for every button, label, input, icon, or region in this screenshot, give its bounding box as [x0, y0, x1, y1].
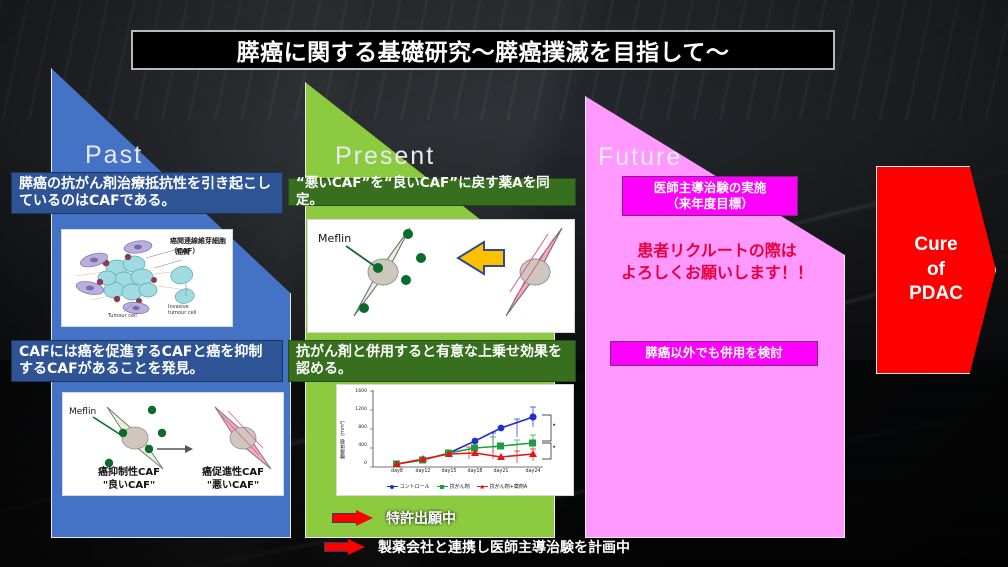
page-title: 膵癌に関する基礎研究〜膵癌撲滅を目指して〜 — [237, 33, 730, 67]
future-recruit-line2: よろしくお願いします！！ — [621, 263, 813, 282]
caf-meflin-label: Meflin — [69, 407, 96, 417]
caf-good-caption-line1: 癌抑制性CAF — [98, 467, 160, 478]
chart-legend-label-2: 抗がん剤+薬剤A — [490, 483, 528, 490]
note-patent: 特許出願中 — [332, 508, 456, 528]
past-statement-2: CAFには癌を促進するCAFと癌を抑制するCAFがあることを発見。 — [11, 340, 283, 382]
future-trial-box: 医師主導治験の実施 （来年度目標） — [622, 176, 798, 216]
present-statement-1: “悪いCAF”を“良いCAF”に戻す薬Aを同定。 — [288, 178, 576, 206]
caf-bad-caption-line1: 癌促進性CAF — [202, 467, 264, 478]
meflin-label: Meflin — [318, 232, 351, 245]
present-statement-2: 抗がん剤と併用すると有意な上乗せ効果を認める。 — [288, 340, 576, 382]
chart-annotation-1: * — [553, 424, 555, 430]
chart-legend-label-0: コントロール — [400, 483, 430, 490]
chart-annotation-2: * — [553, 446, 555, 452]
chart-xtick-2: day15 — [436, 469, 462, 474]
chart-plot — [337, 385, 574, 496]
cure-line-1: Cure — [914, 233, 957, 258]
chart-xtick-0: day8 — [384, 469, 410, 474]
chart-legend-item-2: 抗がん剤+薬剤A — [477, 483, 528, 490]
future-recruit-message: 患者リクルートの際は よろしくお願いします！！ — [594, 240, 840, 283]
right-arrow-icon — [332, 510, 374, 527]
caf-bad-caption: 癌促進性CAF "悪いCAF" — [187, 467, 279, 492]
column-future-label: Future — [598, 143, 682, 172]
past-histology-figure: 癌関連線維芽細胞（CAF） 間質 Tumour cell Invasive tu… — [61, 229, 233, 327]
note-patent-label: 特許出願中 — [386, 508, 456, 528]
chart-ytick-800: 800 — [351, 425, 367, 430]
yellow-left-arrow-icon — [458, 242, 504, 274]
legend-marker-square-icon — [437, 485, 448, 489]
right-arrow-icon — [324, 539, 366, 556]
legend-marker-triangle-icon — [477, 485, 488, 489]
past-caf-figure: Meflin 癌抑制性CAF "良いCAF" 癌促進性CAF "悪いCAF" — [62, 392, 284, 496]
column-past-label: Past — [85, 141, 143, 170]
histology-invasive-label: Invasive tumour cell — [168, 304, 206, 316]
present-tumor-growth-chart: 腫瘍体積（mm³） 1600 1200 800 400 0 — [336, 384, 574, 496]
histology-tumour-label: Tumour cell — [108, 313, 137, 319]
slide-title-bar: 膵癌に関する基礎研究〜膵癌撲滅を目指して〜 — [131, 30, 835, 70]
chart-xtick-4: day21 — [488, 469, 514, 474]
future-recruit-line1: 患者リクルートの際は — [637, 241, 797, 260]
chart-xtick-5: day24 — [520, 469, 546, 474]
caf-good-caption: 癌抑制性CAF "良いCAF" — [83, 467, 175, 492]
note-pharma: 製薬会社と連携し医師主導治験を計画中 — [324, 537, 630, 557]
future-trial-line1: 医師主導治験の実施 — [654, 180, 767, 196]
chart-ytick-1200: 1200 — [351, 407, 367, 412]
future-expansion-box: 膵癌以外でも併用を検討 — [610, 341, 818, 366]
chart-legend-label-1: 抗がん剤 — [450, 483, 470, 490]
future-expansion-label: 膵癌以外でも併用を検討 — [645, 345, 783, 361]
cure-line-3: PDAC — [909, 282, 963, 307]
chart-xtick-1: day12 — [410, 469, 436, 474]
chart-legend-item-1: 抗がん剤 — [437, 483, 470, 490]
slide-canvas: 膵癌に関する基礎研究〜膵癌撲滅を目指して〜 Past 膵癌の抗がん剤治療抵抗性を… — [0, 0, 1008, 567]
present-meflin-figure: Meflin — [307, 219, 575, 333]
caf-good-caption-line2: "良いCAF" — [103, 480, 155, 491]
future-trial-line2: （来年度目標） — [666, 196, 754, 212]
chart-ytick-0: 0 — [351, 461, 367, 466]
chart-area: 腫瘍体積（mm³） 1600 1200 800 400 0 — [337, 385, 573, 495]
legend-marker-circle-icon — [387, 485, 398, 489]
histology-stroma-label: 間質 — [176, 247, 190, 257]
chart-ytick-400: 400 — [351, 443, 367, 448]
chart-xtick-3: day18 — [462, 469, 488, 474]
caf-bad-caption-line2: "悪いCAF" — [207, 480, 259, 491]
chart-legend: コントロール 抗がん剤 抗がん剤+薬剤A — [343, 483, 571, 490]
column-present-label: Present — [335, 142, 435, 171]
cure-line-2: of — [927, 258, 945, 283]
chart-y-axis-label: 腫瘍体積（mm³） — [339, 403, 349, 473]
chart-legend-item-0: コントロール — [387, 483, 430, 490]
past-statement-1: 膵癌の抗がん剤治療抵抗性を引き起こしているのはCAFである。 — [11, 172, 283, 214]
note-pharma-label: 製薬会社と連携し医師主導治験を計画中 — [378, 537, 630, 557]
chart-ytick-1600: 1600 — [351, 389, 367, 394]
